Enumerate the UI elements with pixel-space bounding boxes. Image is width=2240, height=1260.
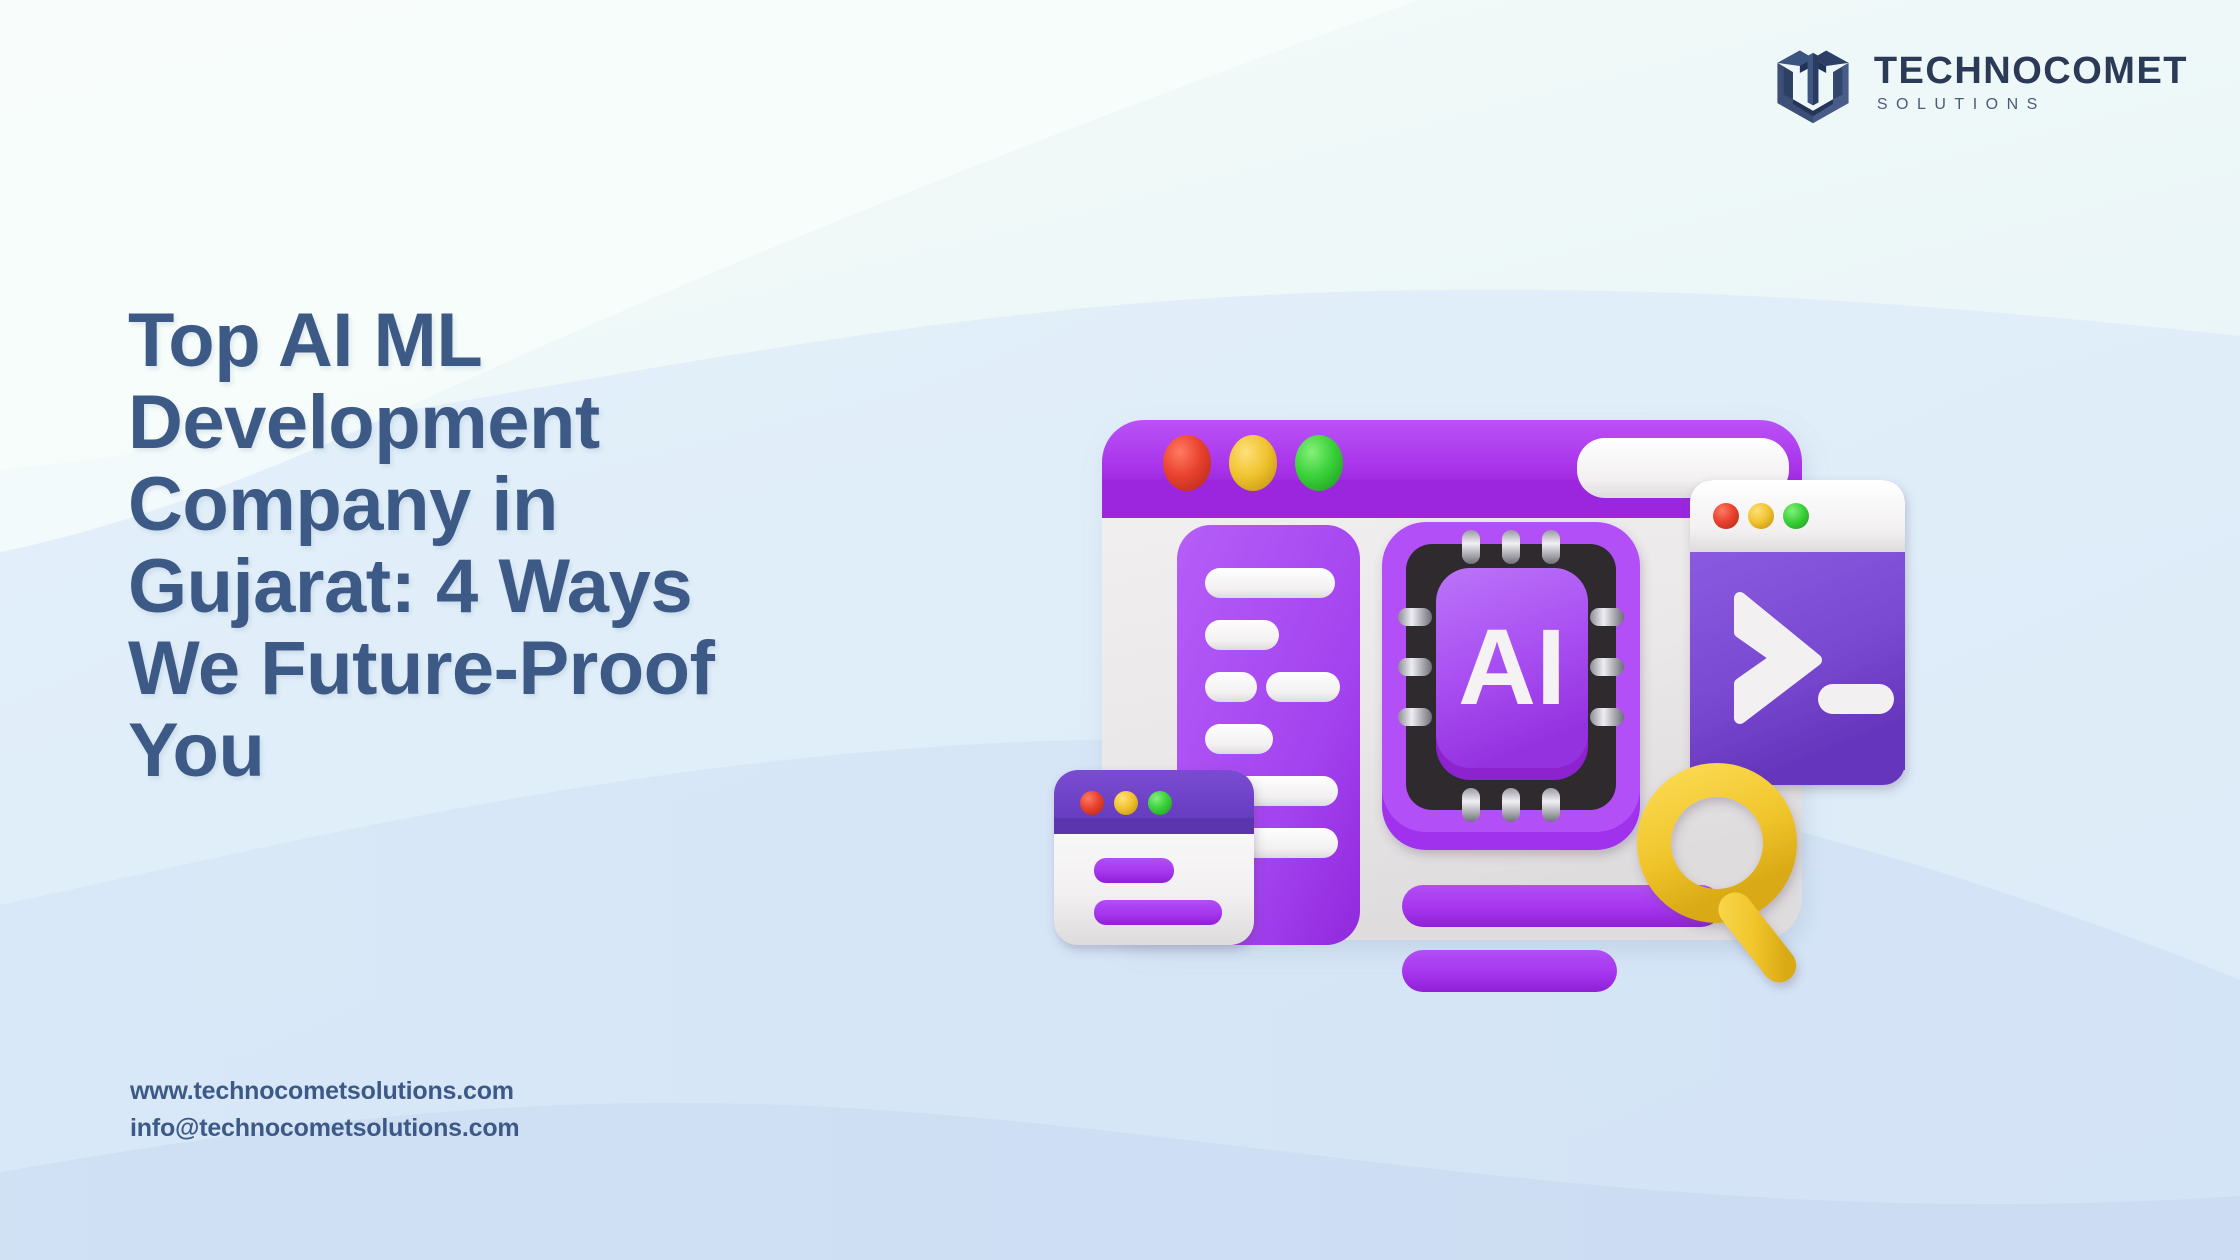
terminal-dot-close-icon[interactable] (1713, 503, 1739, 529)
headline-line-6: You (128, 708, 264, 793)
content-bar-2[interactable] (1402, 950, 1617, 992)
contact-website[interactable]: www.technocometsolutions.com (130, 1073, 519, 1110)
small-window-bar-2[interactable] (1094, 900, 1222, 925)
ai-ml-illustration: AI (1050, 280, 1900, 950)
headline-line-3: Company in (128, 462, 558, 547)
small-window-dot-maximize-icon[interactable] (1148, 791, 1172, 815)
brand-tagline: SOLUTIONS (1877, 96, 2046, 114)
ai-chip-pin-bottom-1 (1462, 788, 1480, 822)
terminal-dot-minimize-icon[interactable] (1748, 503, 1774, 529)
small-window-dot-close-icon[interactable] (1080, 791, 1104, 815)
terminal-dot-maximize-icon[interactable] (1783, 503, 1809, 529)
contact-info: www.technocometsolutions.com info@techno… (130, 1073, 519, 1147)
hexagon-cube-arrow-logo-icon (1774, 42, 1852, 124)
headline-line-5: We Future-Proof (128, 626, 714, 711)
small-window-titlebar-lower (1054, 818, 1254, 834)
small-window[interactable] (1054, 770, 1254, 945)
terminal-cursor-icon (1818, 684, 1894, 714)
headline-line-1: Top AI ML (128, 298, 482, 383)
headline-line-2: Development (128, 380, 600, 465)
ai-chip-pin-top-2 (1502, 530, 1520, 564)
ai-chip-label: AI (1458, 606, 1566, 727)
ai-chip-pin-top-1 (1462, 530, 1480, 564)
sidebar-row-1[interactable] (1205, 568, 1335, 598)
ai-chip-pin-right-2 (1590, 658, 1624, 676)
ai-chip-pin-left-1 (1398, 608, 1432, 626)
ai-chip-pin-left-3 (1398, 708, 1432, 726)
browser-dot-close-icon[interactable] (1163, 435, 1211, 491)
ai-chip[interactable]: AI (1382, 522, 1640, 850)
ai-chip-pin-bottom-2 (1502, 788, 1520, 822)
ai-chip-pin-bottom-3 (1542, 788, 1560, 822)
small-window-bar-1[interactable] (1094, 858, 1174, 883)
ai-chip-pin-right-3 (1590, 708, 1624, 726)
terminal-window[interactable] (1690, 480, 1905, 785)
ai-chip-pin-left-2 (1398, 658, 1432, 676)
small-window-dot-minimize-icon[interactable] (1114, 791, 1138, 815)
browser-dot-maximize-icon[interactable] (1295, 435, 1343, 491)
browser-dot-minimize-icon[interactable] (1229, 435, 1277, 491)
headline-line-4: Gujarat: 4 Ways (128, 544, 692, 629)
ai-chip-pin-right-1 (1590, 608, 1624, 626)
page-title: Top AI ML Development Company in Gujarat… (128, 300, 868, 792)
contact-email[interactable]: info@technocometsolutions.com (130, 1110, 519, 1147)
sidebar-row-4[interactable] (1205, 724, 1273, 754)
sidebar-row-3b[interactable] (1266, 672, 1340, 702)
illustration-svg: AI (1050, 280, 1900, 950)
sidebar-row-2[interactable] (1205, 620, 1279, 650)
sidebar-row-3a[interactable] (1205, 672, 1257, 702)
ai-chip-pin-top-3 (1542, 530, 1560, 564)
brand-logo[interactable]: TECHNOCOMET SOLUTIONS (1774, 42, 2188, 124)
brand-name: TECHNOCOMET (1874, 52, 2188, 91)
